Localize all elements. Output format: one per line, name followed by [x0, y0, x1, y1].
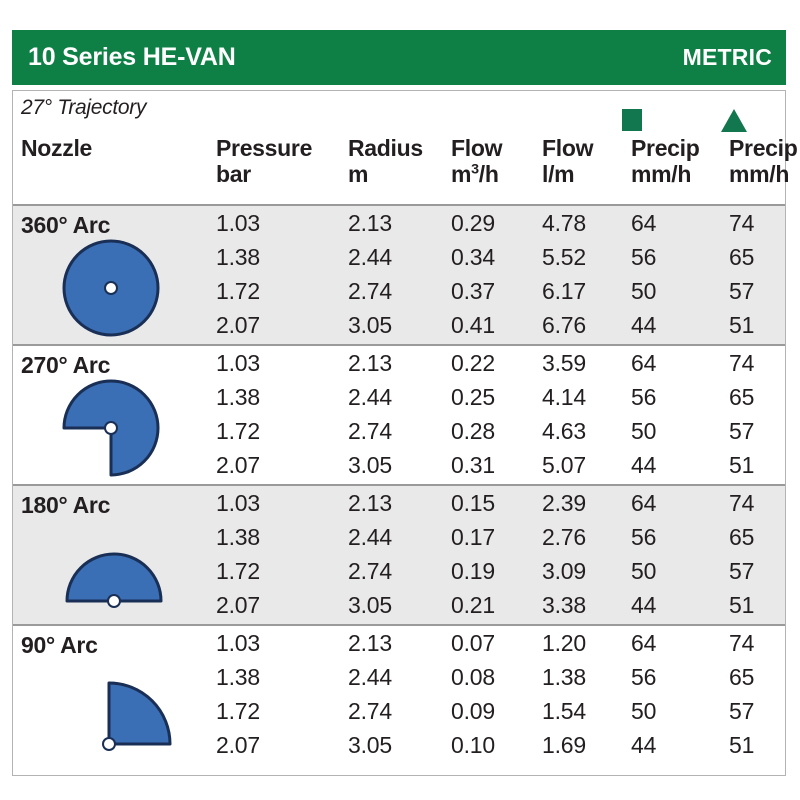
cell-precip-triangle: 74 — [729, 350, 754, 377]
cell-flow-m3h: 0.15 — [451, 490, 495, 517]
cell-flow-lm: 4.78 — [542, 210, 586, 237]
cell-radius: 2.13 — [348, 630, 392, 657]
data-rows: 1.03 2.13 0.29 4.78 64 74 1.38 2.44 0.34… — [13, 210, 785, 346]
column-header-pressure: Pressure bar — [216, 135, 312, 187]
cell-radius: 2.44 — [348, 524, 392, 551]
cell-radius: 2.74 — [348, 278, 392, 305]
cell-pressure: 1.38 — [216, 524, 260, 551]
cell-precip-square: 50 — [631, 278, 656, 305]
table-row: 2.07 3.05 0.41 6.76 44 51 — [13, 312, 785, 346]
table-row: 2.07 3.05 0.10 1.69 44 51 — [13, 732, 785, 766]
cell-radius: 2.13 — [348, 210, 392, 237]
cell-precip-square: 56 — [631, 664, 656, 691]
cell-radius: 2.13 — [348, 490, 392, 517]
cell-pressure: 2.07 — [216, 592, 260, 619]
cell-flow-lm: 2.76 — [542, 524, 586, 551]
cell-precip-square: 50 — [631, 418, 656, 445]
table-row: 1.38 2.44 0.17 2.76 56 65 — [13, 524, 785, 558]
cell-flow-lm: 1.38 — [542, 664, 586, 691]
column-header-flow-m3h: Flow m3/h — [451, 135, 502, 187]
green-triangle-icon — [721, 109, 747, 132]
table-row: 1.03 2.13 0.07 1.20 64 74 — [13, 630, 785, 664]
cell-precip-square: 44 — [631, 592, 656, 619]
table-row: 1.72 2.74 0.37 6.17 50 57 — [13, 278, 785, 312]
cell-radius: 2.44 — [348, 244, 392, 271]
cell-pressure: 1.38 — [216, 664, 260, 691]
cell-pressure: 1.72 — [216, 278, 260, 305]
table-row: 1.72 2.74 0.09 1.54 50 57 — [13, 698, 785, 732]
column-header-precip-triangle: Precip mm/h — [729, 135, 798, 187]
cell-radius: 2.74 — [348, 418, 392, 445]
cell-precip-triangle: 57 — [729, 698, 754, 725]
cell-pressure: 1.03 — [216, 490, 260, 517]
cell-precip-square: 44 — [631, 312, 656, 339]
cell-precip-square: 64 — [631, 630, 656, 657]
arc-block-180: 180° Arc 1.03 2.13 0.15 2.39 64 74 1.38 — [13, 486, 785, 626]
cell-flow-m3h: 0.31 — [451, 452, 495, 479]
cell-flow-m3h: 0.09 — [451, 698, 495, 725]
cell-flow-lm: 4.14 — [542, 384, 586, 411]
cell-flow-lm: 5.52 — [542, 244, 586, 271]
table-row: 1.38 2.44 0.25 4.14 56 65 — [13, 384, 785, 418]
cell-flow-m3h: 0.29 — [451, 210, 495, 237]
cell-pressure: 1.03 — [216, 210, 260, 237]
cell-pressure: 1.03 — [216, 350, 260, 377]
cell-flow-lm: 3.38 — [542, 592, 586, 619]
data-rows: 1.03 2.13 0.07 1.20 64 74 1.38 2.44 0.08… — [13, 630, 785, 766]
cell-pressure: 2.07 — [216, 452, 260, 479]
cell-radius: 2.74 — [348, 698, 392, 725]
cell-radius: 2.44 — [348, 664, 392, 691]
cell-radius: 2.74 — [348, 558, 392, 585]
cell-precip-triangle: 51 — [729, 592, 754, 619]
cell-flow-m3h: 0.34 — [451, 244, 495, 271]
cell-flow-m3h: 0.07 — [451, 630, 495, 657]
cell-flow-m3h: 0.19 — [451, 558, 495, 585]
cell-flow-lm: 6.17 — [542, 278, 586, 305]
cell-pressure: 1.72 — [216, 558, 260, 585]
column-header-nozzle: Nozzle — [21, 135, 92, 161]
cell-pressure: 2.07 — [216, 732, 260, 759]
cell-flow-m3h: 0.17 — [451, 524, 495, 551]
cell-flow-m3h: 0.10 — [451, 732, 495, 759]
table-row: 2.07 3.05 0.21 3.38 44 51 — [13, 592, 785, 626]
table-row: 1.03 2.13 0.22 3.59 64 74 — [13, 350, 785, 384]
cell-precip-triangle: 57 — [729, 558, 754, 585]
data-rows: 1.03 2.13 0.22 3.59 64 74 1.38 2.44 0.25… — [13, 350, 785, 486]
spec-sheet: 10 Series HE-VAN METRIC 27° Trajectory N… — [0, 0, 800, 800]
cell-precip-square: 44 — [631, 452, 656, 479]
cell-precip-square: 44 — [631, 732, 656, 759]
cell-flow-lm: 4.63 — [542, 418, 586, 445]
cell-radius: 3.05 — [348, 732, 392, 759]
cell-pressure: 1.38 — [216, 384, 260, 411]
cell-flow-m3h: 0.21 — [451, 592, 495, 619]
cell-precip-triangle: 74 — [729, 630, 754, 657]
cell-flow-lm: 5.07 — [542, 452, 586, 479]
cell-precip-triangle: 74 — [729, 490, 754, 517]
performance-table-frame: 27° Trajectory Nozzle Pressure bar Radiu… — [12, 90, 786, 776]
arc-block-270: 270° Arc 1.03 2.13 0.22 3.59 64 74 1.38 — [13, 346, 785, 486]
cell-precip-triangle: 51 — [729, 452, 754, 479]
cell-precip-square: 64 — [631, 350, 656, 377]
cell-precip-square: 64 — [631, 490, 656, 517]
product-series-title: 10 Series HE-VAN — [28, 43, 236, 72]
cell-pressure: 1.72 — [216, 698, 260, 725]
cell-radius: 3.05 — [348, 592, 392, 619]
cell-precip-square: 50 — [631, 558, 656, 585]
cell-flow-lm: 1.54 — [542, 698, 586, 725]
cell-pressure: 2.07 — [216, 312, 260, 339]
arc-block-90: 90° Arc 1.03 2.13 0.07 1.20 64 74 1.38 — [13, 626, 785, 769]
cell-precip-triangle: 51 — [729, 732, 754, 759]
table-row: 1.03 2.13 0.15 2.39 64 74 — [13, 490, 785, 524]
cell-flow-lm: 1.69 — [542, 732, 586, 759]
cell-radius: 2.13 — [348, 350, 392, 377]
column-header-row: Nozzle Pressure bar Radius m Flow m3/h F… — [13, 135, 785, 205]
cell-pressure: 1.38 — [216, 244, 260, 271]
cell-flow-lm: 3.59 — [542, 350, 586, 377]
cell-radius: 2.44 — [348, 384, 392, 411]
table-row: 1.38 2.44 0.08 1.38 56 65 — [13, 664, 785, 698]
cell-flow-lm: 2.39 — [542, 490, 586, 517]
cell-flow-lm: 1.20 — [542, 630, 586, 657]
cell-precip-triangle: 65 — [729, 664, 754, 691]
title-bar: 10 Series HE-VAN METRIC — [12, 30, 786, 85]
arc-block-360: 360° Arc 1.03 2.13 0.29 4.78 64 74 1.38 — [13, 206, 785, 346]
table-row: 1.03 2.13 0.29 4.78 64 74 — [13, 210, 785, 244]
cell-precip-triangle: 74 — [729, 210, 754, 237]
cell-flow-m3h: 0.08 — [451, 664, 495, 691]
column-header-precip-square: Precip mm/h — [631, 135, 700, 187]
cell-precip-square: 56 — [631, 384, 656, 411]
cell-flow-m3h: 0.22 — [451, 350, 495, 377]
cell-precip-triangle: 57 — [729, 418, 754, 445]
cell-precip-square: 50 — [631, 698, 656, 725]
cell-flow-lm: 3.09 — [542, 558, 586, 585]
cell-precip-triangle: 65 — [729, 524, 754, 551]
table-row: 2.07 3.05 0.31 5.07 44 51 — [13, 452, 785, 486]
cell-flow-m3h: 0.25 — [451, 384, 495, 411]
unit-m3-per-h: m3/h — [451, 161, 502, 187]
cell-pressure: 1.72 — [216, 418, 260, 445]
cell-precip-triangle: 57 — [729, 278, 754, 305]
column-header-flow-lm: Flow l/m — [542, 135, 593, 187]
cell-radius: 3.05 — [348, 312, 392, 339]
trajectory-note: 27° Trajectory — [21, 96, 146, 120]
cell-precip-square: 56 — [631, 524, 656, 551]
cell-precip-triangle: 51 — [729, 312, 754, 339]
units-system-label: METRIC — [683, 44, 772, 71]
table-header: 27° Trajectory Nozzle Pressure bar Radiu… — [13, 91, 785, 206]
cell-precip-triangle: 65 — [729, 244, 754, 271]
cell-flow-m3h: 0.41 — [451, 312, 495, 339]
green-square-icon — [622, 109, 642, 131]
cell-flow-m3h: 0.28 — [451, 418, 495, 445]
cell-flow-m3h: 0.37 — [451, 278, 495, 305]
table-row: 1.72 2.74 0.28 4.63 50 57 — [13, 418, 785, 452]
cell-precip-square: 56 — [631, 244, 656, 271]
cell-pressure: 1.03 — [216, 630, 260, 657]
cell-flow-lm: 6.76 — [542, 312, 586, 339]
data-rows: 1.03 2.13 0.15 2.39 64 74 1.38 2.44 0.17… — [13, 490, 785, 626]
cell-precip-square: 64 — [631, 210, 656, 237]
cell-precip-triangle: 65 — [729, 384, 754, 411]
table-row: 1.38 2.44 0.34 5.52 56 65 — [13, 244, 785, 278]
column-header-radius: Radius m — [348, 135, 423, 187]
cell-radius: 3.05 — [348, 452, 392, 479]
table-row: 1.72 2.74 0.19 3.09 50 57 — [13, 558, 785, 592]
